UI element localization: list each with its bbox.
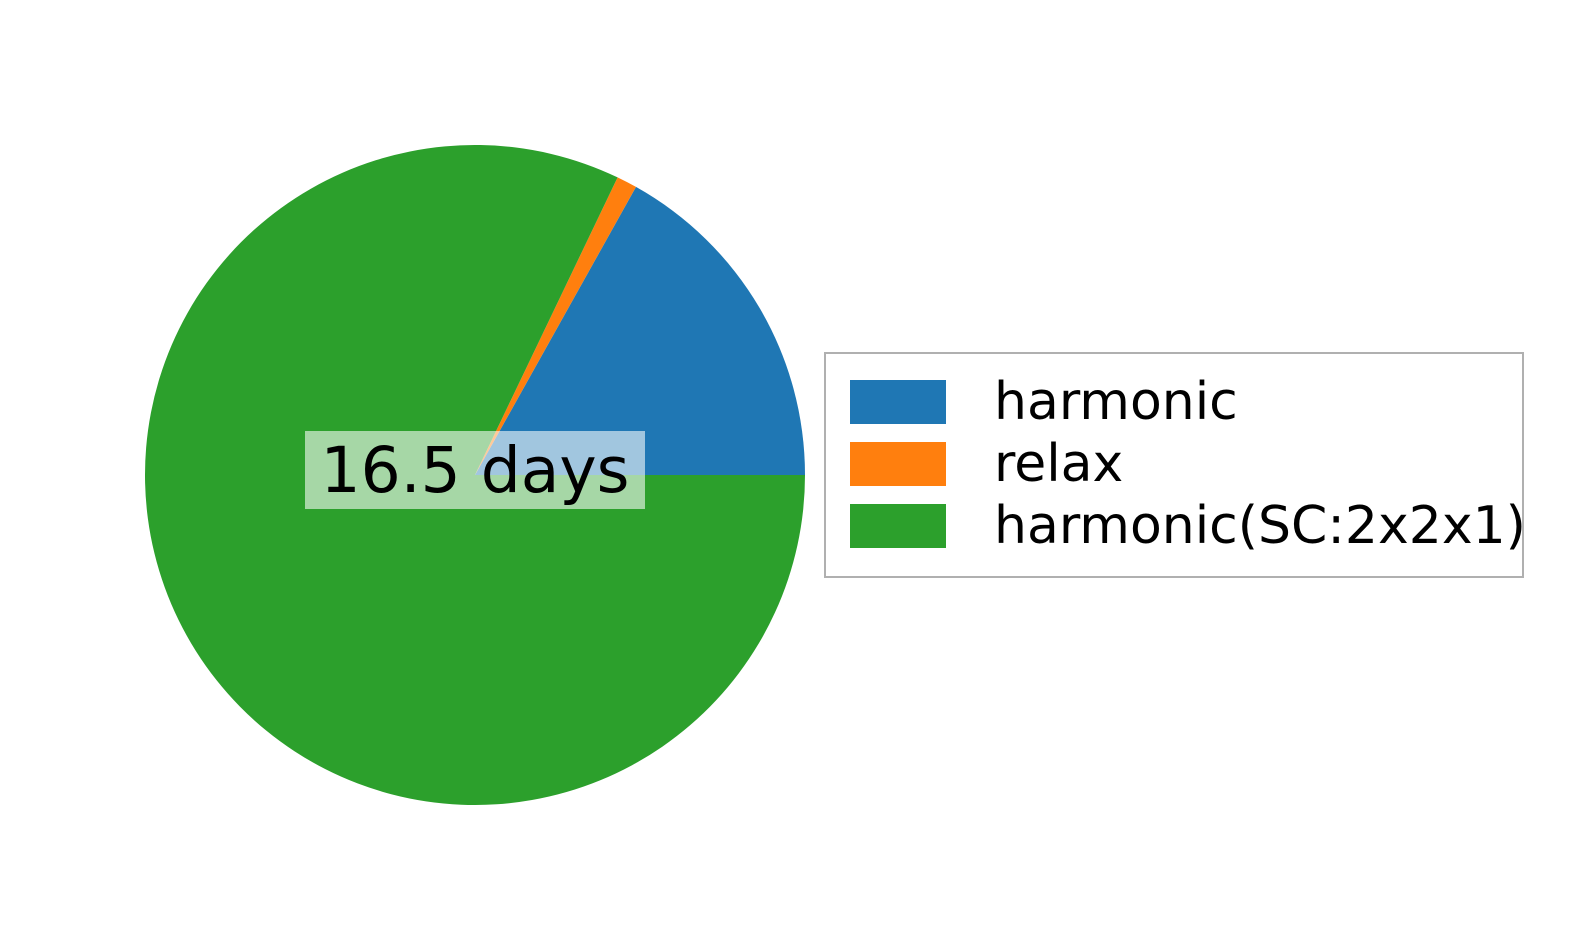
legend-item-relax[interactable]: relax [850,433,1502,495]
legend-item-harmonic-sc[interactable]: harmonic(SC:2x2x1) [850,495,1502,557]
legend-item-harmonic[interactable]: harmonic [850,371,1502,433]
legend-label-harmonic-sc: harmonic(SC:2x2x1) [994,500,1526,552]
legend-label-harmonic: harmonic [994,376,1238,428]
legend-swatch-harmonic-sc [850,504,946,548]
legend-label-relax: relax [994,438,1123,490]
pie-plot-area [145,145,805,805]
legend-swatch-harmonic [850,380,946,424]
pie-chart-figure: 16.5 days harmonic relax harmonic(SC:2x2… [0,0,1584,951]
pie-slice-group [145,145,805,805]
legend-swatch-relax [850,442,946,486]
legend-box: harmonic relax harmonic(SC:2x2x1) [824,352,1524,578]
pie-svg [145,145,805,805]
